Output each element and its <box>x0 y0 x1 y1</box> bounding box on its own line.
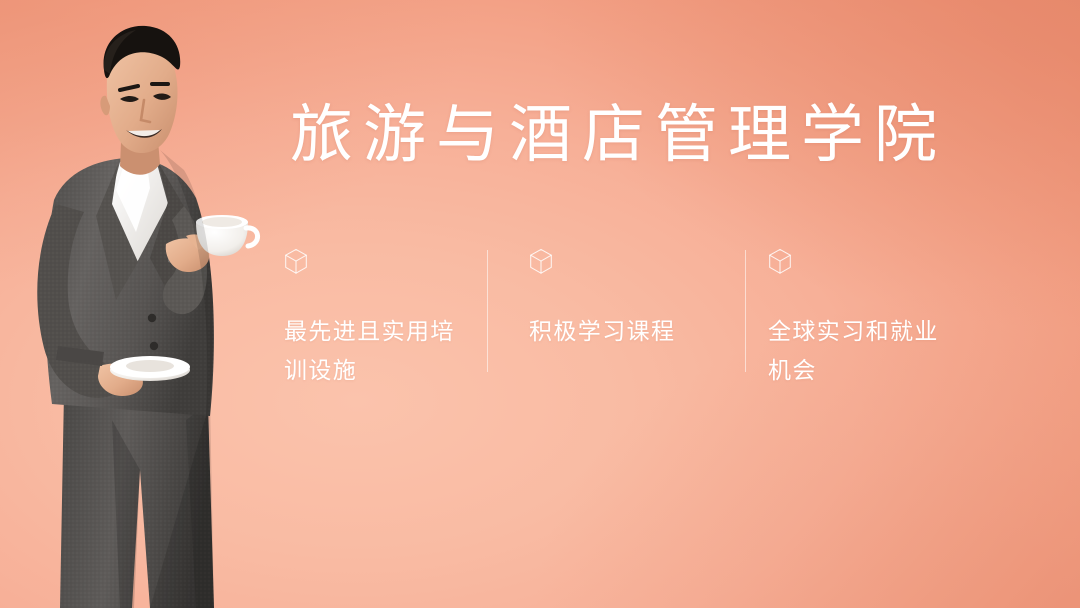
slide-root: 旅游与酒店管理学院 最先进且实用培训设施 <box>0 0 1080 608</box>
feature-item-2[interactable]: 积极学习课程 <box>529 248 739 351</box>
cube-icon <box>529 248 553 275</box>
cube-icon <box>284 248 308 275</box>
feature-list: 最先进且实用培训设施 积极学习课程 <box>284 248 984 378</box>
presenter-photo <box>0 0 300 608</box>
page-title: 旅游与酒店管理学院 <box>290 104 947 167</box>
feature-label: 最先进且实用培训设施 <box>284 312 464 390</box>
feature-label: 全球实习和就业机会 <box>768 312 948 390</box>
cube-icon <box>768 248 792 275</box>
feature-item-3[interactable]: 全球实习和就业机会 <box>768 248 978 390</box>
feature-divider-2 <box>745 250 746 372</box>
feature-label: 积极学习课程 <box>529 312 709 351</box>
feature-item-1[interactable]: 最先进且实用培训设施 <box>284 248 494 390</box>
